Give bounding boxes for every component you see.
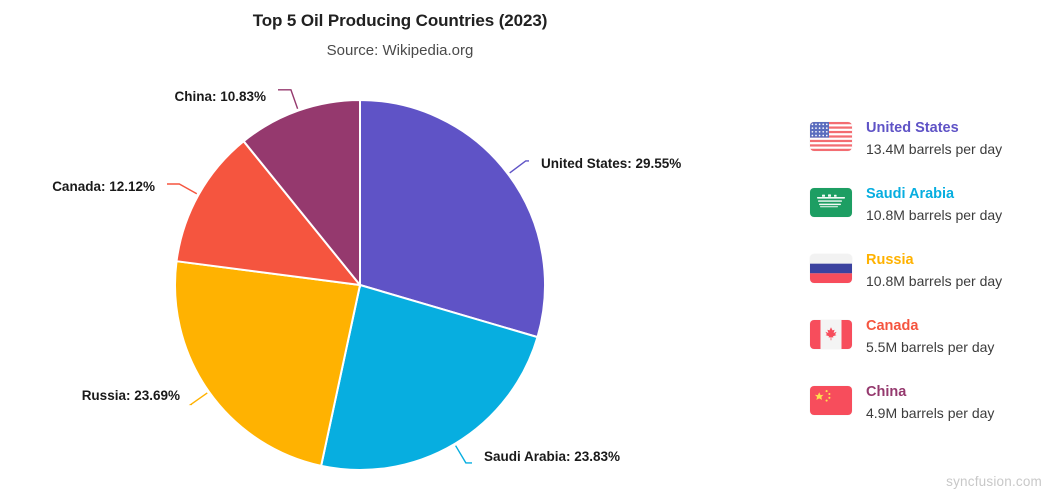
slice-label-canada: Canada: 12.12% — [52, 179, 155, 194]
legend-item-saudi-arabia[interactable]: Saudi Arabia10.8M barrels per day — [810, 184, 1050, 250]
legend-country-name: Canada — [866, 316, 994, 336]
legend-text-canada: Canada5.5M barrels per day — [866, 316, 994, 358]
flag-united-states-icon — [810, 122, 852, 151]
legend-country-name: China — [866, 382, 994, 402]
flag-russia-icon — [810, 254, 852, 283]
slice-label-saudi-arabia: Saudi Arabia: 23.83% — [484, 449, 620, 464]
legend-country-name: Russia — [866, 250, 1002, 270]
legend-item-united-states[interactable]: United States13.4M barrels per day — [810, 118, 1050, 184]
chart-legend: United States13.4M barrels per daySaudi … — [810, 118, 1050, 448]
legend-country-name: Saudi Arabia — [866, 184, 1002, 204]
leader-line-russia — [191, 393, 207, 405]
legend-country-name: United States — [866, 118, 1002, 138]
slice-label-russia: Russia: 23.69% — [82, 388, 180, 403]
pie-slices-group — [175, 100, 545, 470]
pie-plot-area: United States: 29.55%Saudi Arabia: 23.83… — [0, 0, 800, 498]
legend-item-china[interactable]: China4.9M barrels per day — [810, 382, 1050, 448]
legend-country-value: 13.4M barrels per day — [866, 139, 1002, 160]
slice-label-united-states: United States: 29.55% — [541, 156, 681, 171]
leader-line-united-states — [510, 161, 529, 173]
legend-text-russia: Russia10.8M barrels per day — [866, 250, 1002, 292]
legend-text-saudi-arabia: Saudi Arabia10.8M barrels per day — [866, 184, 1002, 226]
legend-item-canada[interactable]: Canada5.5M barrels per day — [810, 316, 1050, 382]
watermark: syncfusion.com — [946, 474, 1042, 489]
legend-text-united-states: United States13.4M barrels per day — [866, 118, 1002, 160]
leader-line-china — [278, 90, 298, 109]
flag-canada-icon — [810, 320, 852, 349]
legend-country-value: 4.9M barrels per day — [866, 403, 994, 424]
legend-country-value: 10.8M barrels per day — [866, 205, 1002, 226]
legend-country-value: 5.5M barrels per day — [866, 337, 994, 358]
legend-text-china: China4.9M barrels per day — [866, 382, 994, 424]
flag-saudi-arabia-icon — [810, 188, 852, 217]
leader-line-canada — [167, 184, 197, 194]
slice-label-china: China: 10.83% — [174, 89, 266, 104]
leader-line-saudi-arabia — [456, 446, 472, 463]
flag-china-icon — [810, 386, 852, 415]
legend-country-value: 10.8M barrels per day — [866, 271, 1002, 292]
legend-item-russia[interactable]: Russia10.8M barrels per day — [810, 250, 1050, 316]
pie-chart-widget: Top 5 Oil Producing Countries (2023) Sou… — [0, 0, 1054, 498]
